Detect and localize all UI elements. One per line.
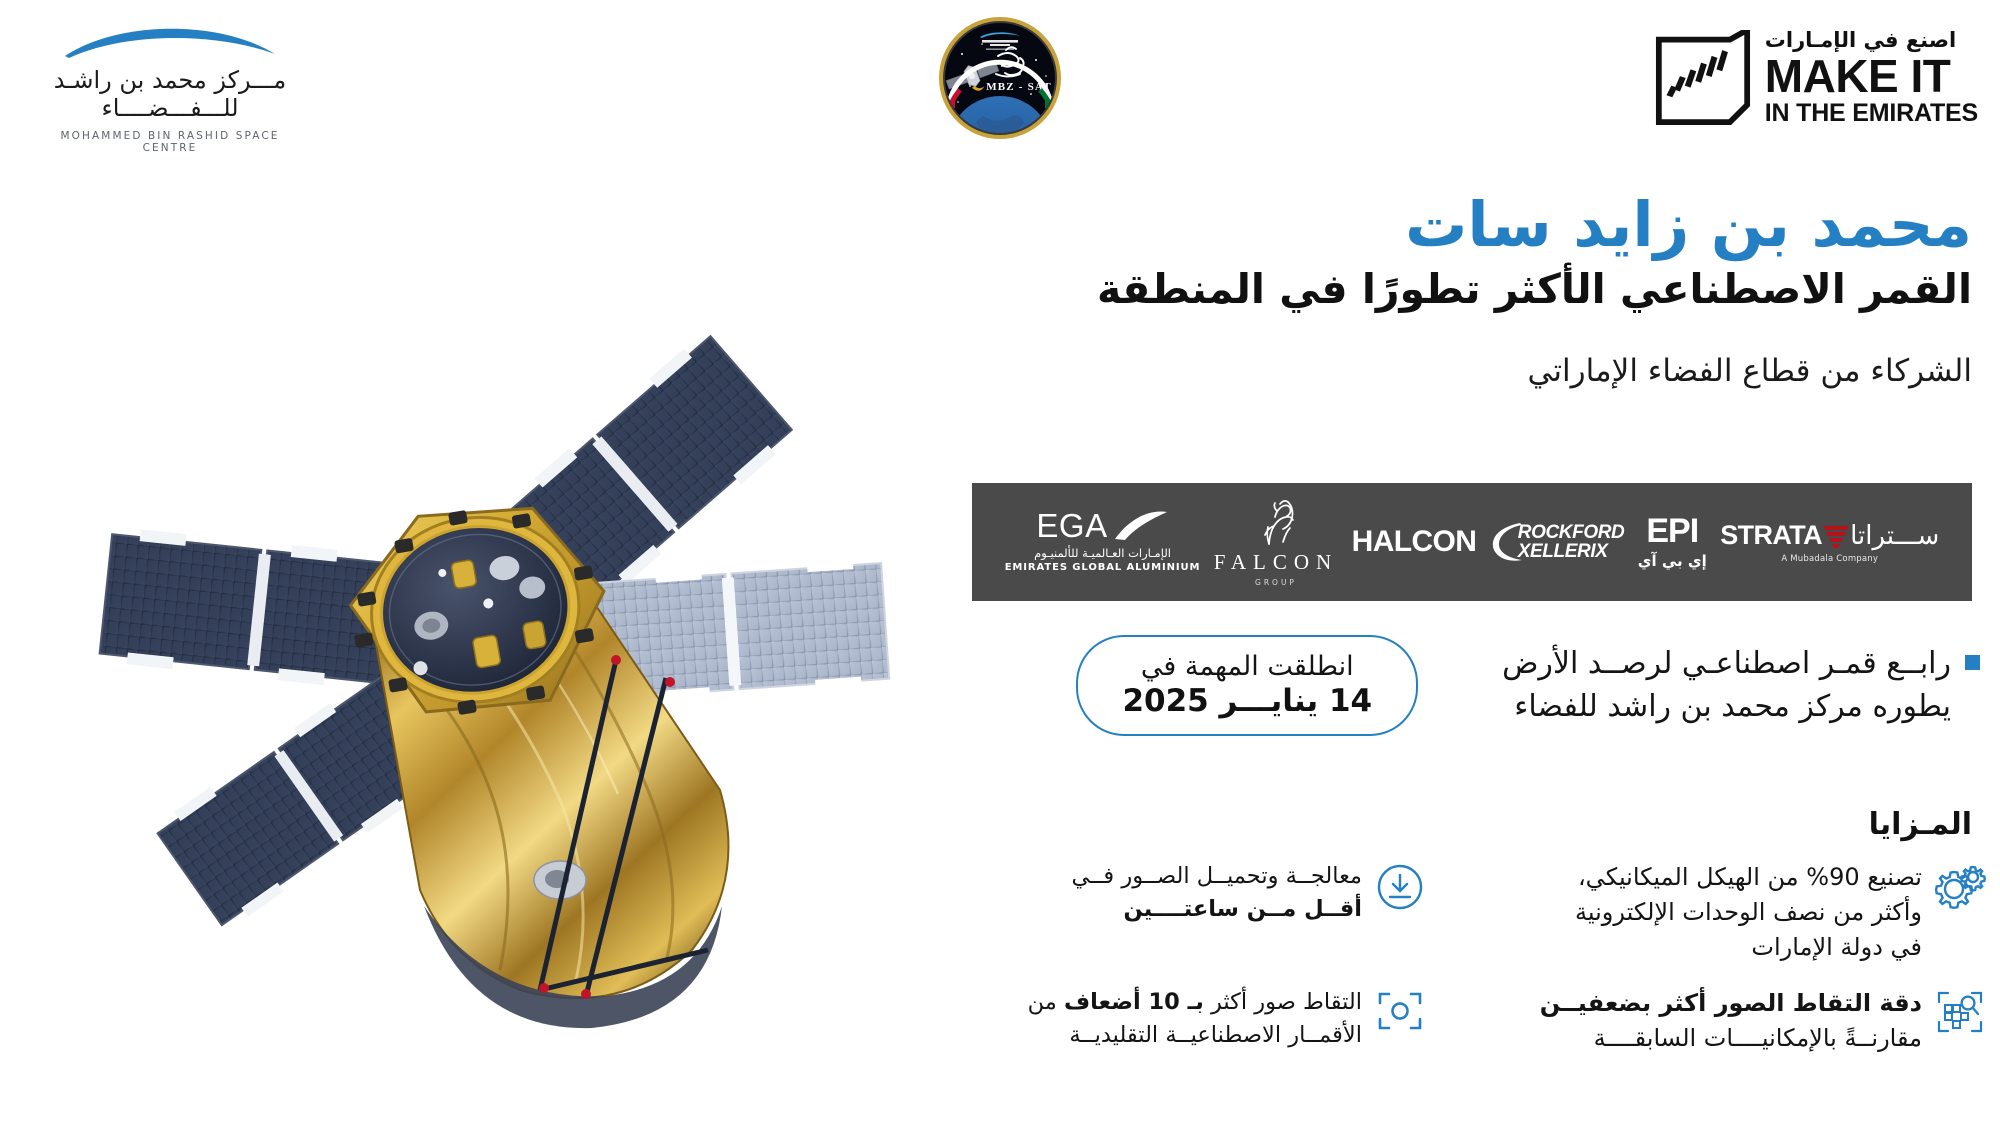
feature-manufacturing-line2: وأكثر من نصف الوحدات الإلكترونية: [1430, 895, 1922, 930]
feature-resolution-line2: مقارنــةً بالإمكانيــــات السابقــــة: [1430, 1021, 1922, 1056]
strata-arabic: ســـتراتا: [1850, 521, 1939, 551]
ega-swoosh-icon: [1113, 511, 1169, 541]
arc-swoosh-icon: [65, 28, 275, 58]
falcon-wordmark: FALCON: [1214, 550, 1338, 575]
features-grid: تصنيع 90% من الهيكل الميكانيكي، وأكثر من…: [960, 860, 1990, 1056]
mbz-sat-satellite-render: [20, 190, 950, 1090]
feature-image-resolution: دقة التقاط الصور أكثر بضعفيــن مقارنــةً…: [1430, 986, 1990, 1056]
make-it-line2: IN THE EMIRATES: [1765, 100, 1978, 126]
feature-download-speed: معالجــة وتحميــل الصــور فــي أقــل مــ…: [970, 860, 1430, 964]
epi-wordmark: EPI: [1646, 514, 1698, 548]
rockford-line2: XELLERIX: [1518, 542, 1625, 561]
halcon-wordmark: HALCON: [1352, 525, 1477, 559]
intro-bullet-line2: يطوره مركز محمد بن راشد للفضاء: [1502, 686, 1951, 729]
download-circle-icon: [1370, 860, 1430, 911]
partners-heading: الشركاء من قطاع الفضاء الإماراتي: [940, 353, 1972, 390]
header-bar: مـــركز محمد بن راشـد للـــفـــضــــاء M…: [0, 0, 2000, 175]
launch-date-badge: انطلقت المهمة في 14 ينايـــر 2025: [1076, 635, 1418, 736]
make-it-line1: MAKE IT: [1765, 54, 1978, 99]
partner-logo-ega: EGA الإمـارات العـالميـة للألمنيـوم EMIR…: [1005, 511, 1201, 573]
content-column: محمد بن زايد سات القمر الاصطناعي الأكثر …: [940, 190, 2000, 1100]
feature-download-line1: معالجــة وتحميــل الصــور فــي: [970, 860, 1362, 893]
feature-manufacturing: تصنيع 90% من الهيكل الميكانيكي، وأكثر من…: [1430, 860, 1990, 964]
mbrsc-english: MOHAMMED BIN RASHID SPACE CENTRE: [35, 130, 305, 154]
mbrsc-logo: مـــركز محمد بن راشـد للـــفـــضــــاء M…: [35, 28, 305, 154]
scan-search-icon: [1930, 986, 1990, 1035]
mbrsc-arabic-line2: للـــفـــضــــاء: [35, 94, 305, 122]
ega-arabic: الإمـارات العـالميـة للألمنيـوم: [1034, 546, 1171, 560]
falcon-horse-rider-icon: [1253, 498, 1299, 546]
partner-logo-strata: STRATA ســـتراتا A Mubadala Company: [1720, 520, 1939, 564]
page-subtitle: القمر الاصطناعي الأكثر تطورًا في المنطقة: [940, 265, 1972, 314]
intro-bullet: رابــع قمـر اصطناعـي لرصــد الأرض يطوره …: [1502, 643, 1980, 728]
strata-tagline: A Mubadala Company: [1781, 554, 1878, 564]
satellite-illustration: [20, 190, 950, 1090]
launch-date: 14 ينايـــر 2025: [1122, 683, 1372, 720]
feature-manufacturing-line3: في دولة الإمارات: [1430, 930, 1922, 965]
mbz-sat-patch-icon: MBZ - SAT: [936, 14, 1064, 142]
feature-resolution-line1: دقة التقاط الصور أكثر بضعفيــن: [1540, 989, 1922, 1017]
feature-capture-line2: الأقمــار الاصطناعيــة التقليديــة: [970, 1019, 1362, 1052]
falcon-sub: GROUP: [1255, 578, 1297, 587]
intro-bullet-line1: رابــع قمـر اصطناعـي لرصــد الأرض: [1502, 643, 1951, 686]
make-it-in-the-emirates-logo: اصنع في الإمـارات MAKE IT IN THE EMIRATE…: [1655, 30, 1978, 126]
feature-download-line2: أقــل مــن ساعتــــين: [1124, 896, 1362, 922]
partner-logo-rockford: ROCKFORD XELLERIX: [1490, 520, 1625, 564]
bullet-square-icon: [1965, 655, 1980, 670]
features-heading: المـزايا: [1869, 807, 1972, 842]
partner-logo-epi: EPI إي بي آي: [1638, 514, 1707, 570]
ega-english: EMIRATES GLOBAL ALUMINIUM: [1005, 562, 1201, 573]
make-it-arabic: اصنع في الإمـارات: [1765, 30, 1978, 51]
launch-and-intro-row: رابــع قمـر اصطناعـي لرصــد الأرض يطوره …: [970, 635, 1980, 736]
strata-chevron-icon: [1823, 523, 1849, 549]
feature-capture-line1-bold: بـ 10 أضعاف: [1064, 989, 1204, 1015]
feature-capture-line1-post: من: [1028, 989, 1064, 1015]
feature-capture-capacity: التقاط صور أكثر بـ 10 أضعاف من الأقمــار…: [970, 986, 1430, 1056]
title-block: محمد بن زايد سات القمر الاصطناعي الأكثر …: [940, 190, 2000, 390]
launch-label: انطلقت المهمة في: [1122, 651, 1372, 683]
page-title: محمد بن زايد سات: [940, 190, 1972, 259]
camera-frame-icon: [1370, 986, 1430, 1033]
partner-logo-halcon: HALCON: [1352, 525, 1477, 559]
features-row-1: تصنيع 90% من الهيكل الميكانيكي، وأكثر من…: [960, 860, 1990, 964]
features-row-2: دقة التقاط الصور أكثر بضعفيــن مقارنــةً…: [960, 986, 1990, 1056]
make-it-square-mark-icon: [1655, 30, 1751, 126]
epi-arabic: إي بي آي: [1638, 552, 1707, 570]
feature-manufacturing-line1: تصنيع 90% من الهيكل الميكانيكي،: [1430, 860, 1922, 895]
mbrsc-arabic-line1: مـــركز محمد بن راشـد: [35, 66, 305, 94]
rockford-line1: ROCKFORD: [1518, 523, 1625, 542]
partner-logo-falcon: FALCON GROUP: [1214, 498, 1338, 587]
partner-logo-bar: EGA الإمـارات العـالميـة للألمنيـوم EMIR…: [972, 483, 1972, 601]
feature-capture-line1-pre: التقاط صور أكثر: [1204, 989, 1362, 1015]
ega-wordmark: EGA: [1036, 511, 1107, 541]
gears-icon: [1930, 860, 1990, 911]
mission-patch: MBZ - SAT: [936, 14, 1064, 142]
strata-wordmark: STRATA: [1720, 520, 1822, 551]
